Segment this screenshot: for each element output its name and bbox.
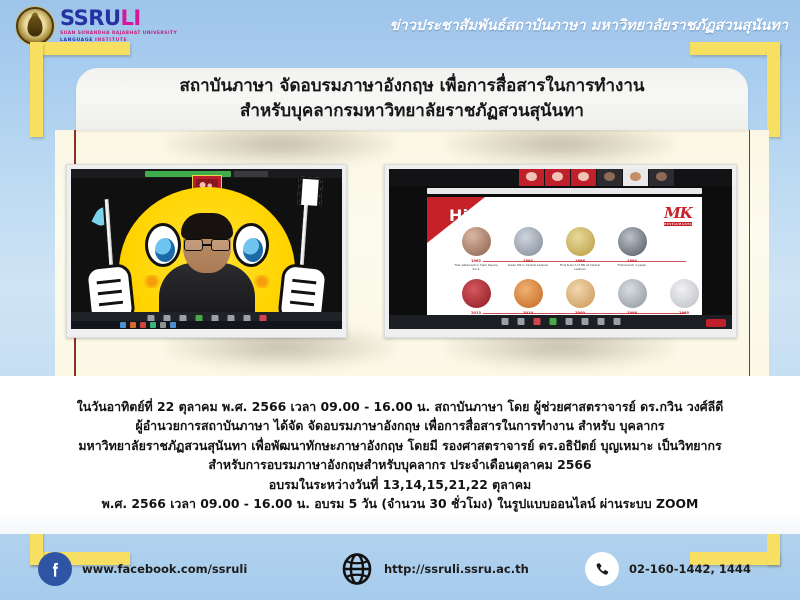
zoom-reactions-icon	[613, 318, 620, 325]
participant-tile	[597, 169, 622, 186]
description-panel: ในวันอาทิตย์ที่ 22 ตุลาคม พ.ศ. 2566 เวลา…	[0, 376, 800, 534]
zoom-chat-icon	[581, 318, 588, 325]
zoom-participant-filmstrip	[389, 169, 732, 186]
facebook-url-text: www.facebook.com/ssruli	[82, 562, 247, 576]
participant-tile	[545, 169, 570, 186]
footer-website[interactable]: http://ssruli.ssru.ac.th	[340, 552, 529, 586]
emoji-knuckles	[292, 279, 316, 284]
os-taskbar-apps	[120, 322, 176, 328]
timeline-desc: First branch of MK at Central Ladprao	[557, 264, 603, 272]
zoom-video-icon	[517, 318, 524, 325]
timeline-desc: Green MK in Central Ladprao	[505, 264, 551, 268]
taskbar-app-icon	[140, 322, 146, 328]
timeline-photo	[618, 279, 647, 308]
timeline-desc: First branch in Japan	[609, 264, 655, 268]
slide-brand-name: MK	[664, 204, 692, 222]
taskbar-app-icon	[170, 322, 176, 328]
description-line-4: สำหรับการอบรมภาษาอังกฤษสำหรับบุคลากร ประ…	[208, 455, 591, 475]
presentation-stage: History MKRESTAURANTS 1962Thai restauran…	[389, 169, 732, 329]
timeline-desc: Thai restaurant in Siam Square Soi 6	[453, 264, 499, 272]
slide-brand-subtitle: RESTAURANTS	[664, 222, 692, 226]
glasses-lens-right	[211, 239, 230, 251]
timeline-row-top: 1962Thai restaurant in Siam Square Soi 6…	[453, 227, 692, 279]
taskbar-app-icon	[160, 322, 166, 328]
participant-tile	[519, 169, 544, 186]
logo-ssru-text: SSRU	[60, 6, 121, 30]
participant-tile	[571, 169, 596, 186]
zoom-stop-share-icon	[533, 318, 540, 325]
description-line-6: พ.ศ. 2566 เวลา 09.00 - 16.00 น. อบรม 5 ว…	[102, 494, 699, 514]
speaker-head	[183, 215, 231, 273]
taskbar-app-icon	[120, 322, 126, 328]
facebook-icon[interactable]	[38, 552, 72, 586]
speaker-glasses	[184, 239, 230, 251]
taskbar-app-icon	[150, 322, 156, 328]
timeline-photo	[514, 279, 543, 308]
zoom-toolbar	[389, 315, 732, 329]
timeline-photo	[462, 279, 491, 308]
timeline-item: 1994First branch in Japan	[609, 227, 655, 268]
screenshot-zoom-presentation: History MKRESTAURANTS 1962Thai restauran…	[384, 164, 737, 338]
panel-rule-right	[749, 130, 751, 376]
glasses-lens-left	[184, 239, 203, 251]
browser-address-bar	[427, 188, 702, 194]
logo-university-subtitle: SUAN SUNANDHA RAJABHAT UNIVERSITY	[60, 31, 177, 36]
timeline-item: 1998The electronic pots	[609, 279, 655, 320]
timeline-item: 1995The 50th branch	[661, 279, 702, 320]
timeline-item: 1962Thai restaurant in Siam Square Soi 6	[453, 227, 499, 272]
shared-slide: History MKRESTAURANTS 1962Thai restauran…	[427, 197, 702, 323]
zoom-share-screen-icon	[549, 318, 556, 325]
phone-icon[interactable]	[585, 552, 619, 586]
timeline-photo	[670, 279, 699, 308]
university-seal-icon	[16, 7, 54, 45]
logo-main-text: SSRULI	[60, 8, 177, 29]
speaker-portrait	[159, 215, 255, 319]
title-line-2: สำหรับบุคลากรมหาวิทยาลัยราชภัฏสวนสุนันทา	[240, 99, 584, 124]
description-line-1: ในวันอาทิตย์ที่ 22 ตุลาคม พ.ศ. 2566 เวลา…	[77, 397, 724, 417]
zoom-mic-icon	[501, 318, 508, 325]
bracket-arm-horizontal	[30, 42, 130, 55]
timeline-photo	[566, 227, 595, 256]
emoji-virtual-background	[71, 169, 342, 329]
zoom-toolbar-icons	[501, 318, 620, 325]
timeline-photo	[514, 227, 543, 256]
glasses-bridge	[203, 244, 211, 246]
poster-footer: www.facebook.com/ssruli http://ssruli.ss…	[0, 534, 800, 600]
emoji-knife-icon	[102, 197, 115, 271]
description-line-3: มหาวิทยาลัยราชภัฏสวนสุนันทา เพื่อพัฒนาทั…	[78, 436, 721, 456]
os-taskbar	[71, 321, 342, 329]
logo-wordmark: SSRULI SUAN SUNANDHA RAJABHAT UNIVERSITY…	[60, 7, 177, 43]
timeline-item: 2000There were 200 branches	[557, 279, 603, 320]
bracket-arm-vertical	[30, 42, 43, 137]
description-line-5: อบรมในระหว่างวันที่ 13,14,15,21,22 ตุลาค…	[269, 475, 531, 495]
logo-li-text: LI	[121, 6, 141, 30]
timeline-item: 2010First branch in Vietnam	[505, 279, 551, 320]
ssru-language-institute-logo: SSRULI SUAN SUNANDHA RAJABHAT UNIVERSITY…	[16, 7, 177, 45]
timeline-photo	[462, 227, 491, 256]
participant-tile	[623, 169, 648, 186]
timeline-item: 1986First branch of MK at Central Ladpra…	[557, 227, 603, 272]
description-line-2: ผู้อำนวยการสถาบันภาษา ได้จัด จัดอบรมภาษา…	[135, 416, 664, 436]
globe-icon[interactable]	[340, 552, 374, 586]
slide-brand-logo: MKRESTAURANTS	[664, 204, 692, 226]
zoom-view-control	[234, 171, 268, 177]
speaker-hair	[181, 213, 233, 239]
timeline-photo	[618, 227, 647, 256]
timeline-item: 1984Green MK in Central Ladprao	[505, 227, 551, 268]
header-news-banner: ข่าวประชาสัมพันธ์สถาบันภาษา มหาวิทยาลัยร…	[390, 14, 788, 37]
phone-number-text: 02-160-1442, 1444	[629, 562, 751, 576]
participant-tile	[649, 169, 674, 186]
bracket-arm-vertical	[767, 42, 780, 137]
timeline-photo	[566, 279, 595, 308]
website-url-text: http://ssruli.ssru.ac.th	[384, 562, 529, 576]
screenshot-left-content	[71, 169, 342, 329]
emoji-knuckles	[97, 279, 121, 284]
emoji-fork-icon	[297, 197, 310, 271]
zoom-leave-button	[706, 319, 726, 327]
title-line-1: สถาบันภาษา จัดอบรมภาษาอังกฤษ เพื่อการสื่…	[179, 74, 644, 99]
promotional-poster: SSRULI SUAN SUNANDHA RAJABHAT UNIVERSITY…	[0, 0, 800, 600]
zoom-participants-icon	[565, 318, 572, 325]
slide-title: History	[449, 206, 516, 225]
zoom-record-icon	[597, 318, 604, 325]
taskbar-app-icon	[130, 322, 136, 328]
screenshot-zoom-speaker	[66, 164, 347, 338]
footer-phone[interactable]: 02-160-1442, 1444	[585, 552, 751, 586]
footer-facebook[interactable]: www.facebook.com/ssruli	[38, 552, 247, 586]
screenshot-right-content: History MKRESTAURANTS 1962Thai restauran…	[389, 169, 732, 329]
title-card: สถาบันภาษา จัดอบรมภาษาอังกฤษ เพื่อการสื่…	[76, 68, 748, 130]
